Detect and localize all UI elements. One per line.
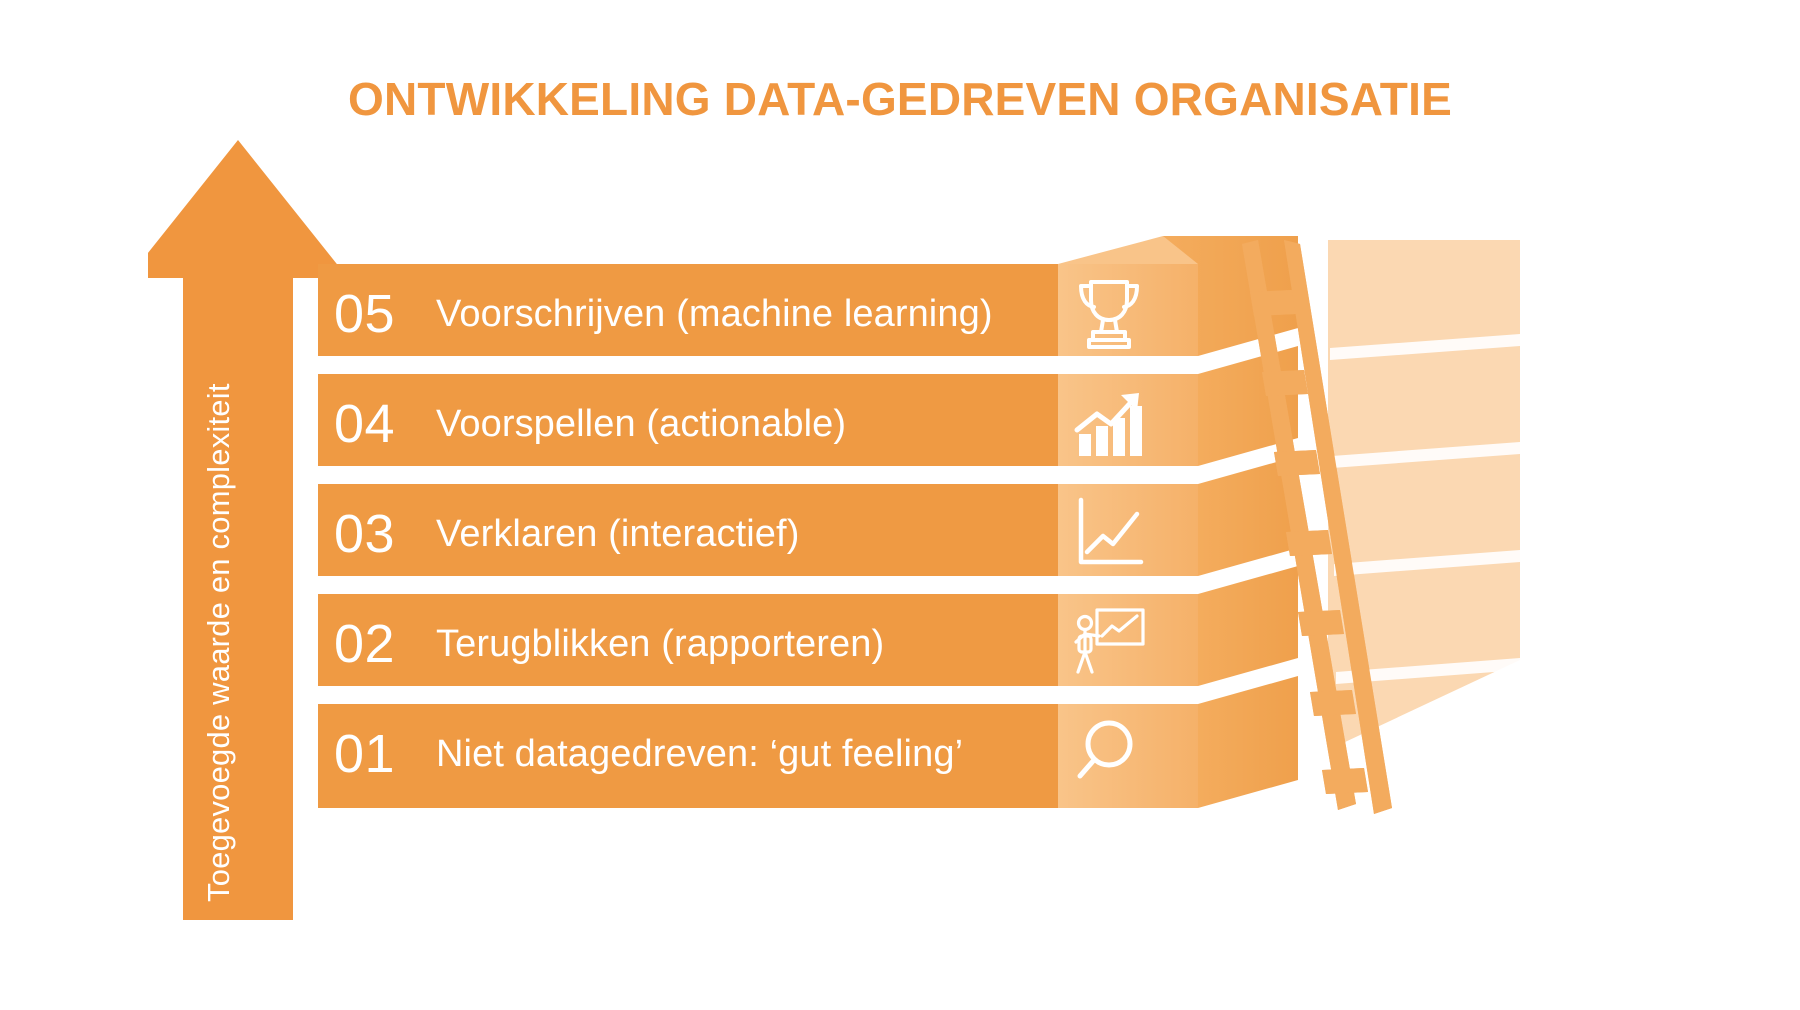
bar-chart-arrow-icon (1063, 376, 1155, 468)
page-title: ONTWIKKELING DATA-GEDREVEN ORGANISATIE (0, 72, 1800, 126)
magnifier-icon (1063, 706, 1155, 798)
infographic-canvas: ONTWIKKELING DATA-GEDREVEN ORGANISATIE T… (0, 0, 1800, 1010)
ladder-decoration (1180, 230, 1600, 850)
trophy-icon (1063, 266, 1155, 358)
presenter-board-icon (1063, 596, 1155, 688)
line-chart-icon (1063, 486, 1155, 578)
ladder-icon (1180, 230, 1600, 850)
axis-label: Toegevoegde waarde en complexiteit (184, 140, 254, 920)
